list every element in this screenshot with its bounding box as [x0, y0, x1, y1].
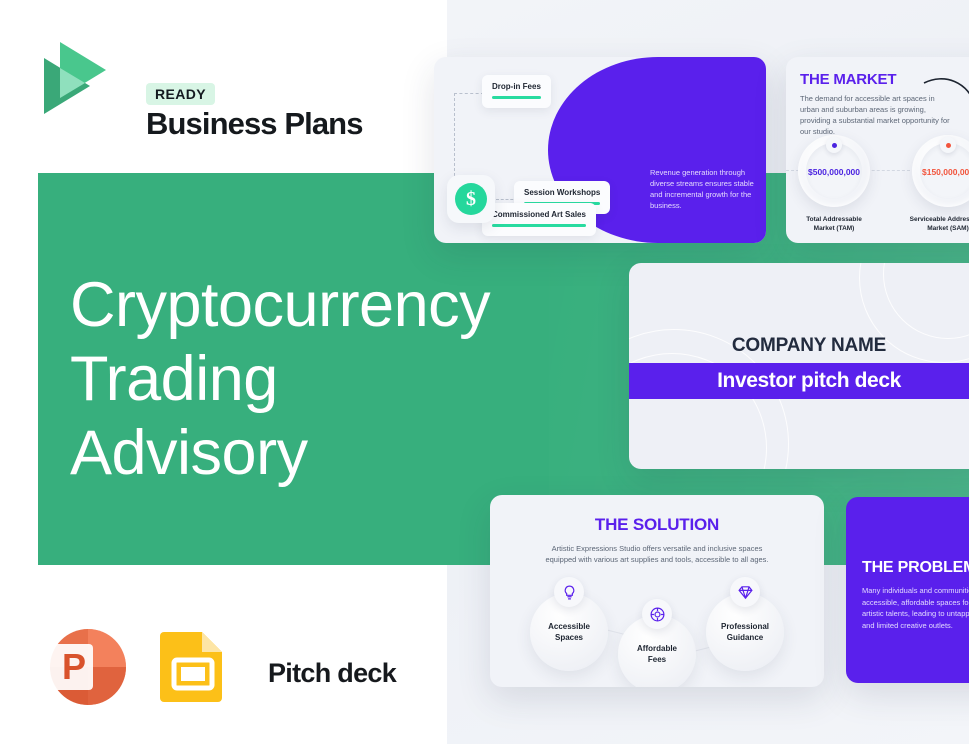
chip-underline [492, 96, 541, 99]
market-dot-plate-tam [826, 137, 842, 153]
problem-description: Many individuals and communities lack ac… [862, 585, 969, 631]
market-caption-tam: Total Addressable Market (TAM) [786, 215, 889, 233]
target-icon [642, 599, 672, 629]
solution-description: Artistic Expressions Studio offers versa… [545, 543, 769, 565]
solution-node-label: Professional Guidance [721, 621, 769, 643]
revenue-chip-drop-in-fees[interactable]: Drop-in Fees [482, 75, 551, 108]
slide-the-market[interactable]: THE MARKET The demand for accessible art… [786, 57, 969, 243]
chip-label: Drop-in Fees [492, 82, 541, 91]
market-title: THE MARKET [800, 71, 896, 88]
slide-the-solution[interactable]: THE SOLUTION Artistic Expressions Studio… [490, 495, 824, 687]
brand-name: Business Plans [146, 106, 363, 142]
investor-pitch-deck-bar: Investor pitch deck [629, 363, 969, 399]
poster-root: READY Business Plans Cryptocurrency Trad… [0, 0, 969, 744]
market-caption-sam: Serviceable Addressable Market (SAM) [893, 215, 969, 233]
page-title: Cryptocurrency Trading Advisory [70, 268, 540, 490]
solution-node-label: Accessible Spaces [548, 621, 590, 643]
powerpoint-icon: P [40, 622, 126, 708]
investor-pitch-deck-label: Investor pitch deck [717, 369, 901, 393]
lightbulb-icon [554, 577, 584, 607]
solution-title: THE SOLUTION [490, 515, 824, 535]
curved-arrow-icon [922, 75, 969, 122]
slide-the-problem[interactable]: THE PROBLEM Many individuals and communi… [846, 497, 969, 683]
chip-label: Commissioned Art Sales [492, 210, 586, 219]
company-name-title: COMPANY NAME [629, 335, 969, 357]
connector-line-top [454, 93, 484, 94]
ready-badge: READY [146, 83, 215, 105]
market-dot-sam [946, 143, 951, 148]
market-amount-tam: $500,000,000 [800, 167, 868, 177]
market-dot-plate-sam [940, 137, 956, 153]
play-triangles-logo-icon [38, 38, 110, 118]
problem-title: THE PROBLEM [862, 559, 969, 577]
slide-company-name[interactable]: COMPANY NAME Investor pitch deck [629, 263, 969, 469]
chip-label: Session Workshops [524, 188, 600, 197]
business-model-description: Revenue generation through diverse strea… [650, 167, 754, 211]
svg-text:P: P [62, 646, 86, 687]
solution-node-label: Affordable Fees [637, 643, 677, 665]
brand-logo[interactable]: READY Business Plans [38, 36, 378, 120]
dollar-icon: $ [455, 183, 487, 215]
diamond-icon [730, 577, 760, 607]
revenue-chip-commissioned-art-sales[interactable]: Commissioned Art Sales [482, 203, 596, 236]
google-slides-icon [158, 628, 228, 702]
market-amount-sam: $150,000,000 [914, 167, 969, 177]
footer-label: Pitch deck [268, 658, 396, 689]
slide-business-model[interactable]: Drop-in Fees Session Workshops Commissio… [434, 57, 766, 243]
chip-underline [492, 224, 586, 227]
market-dot-tam [832, 143, 837, 148]
